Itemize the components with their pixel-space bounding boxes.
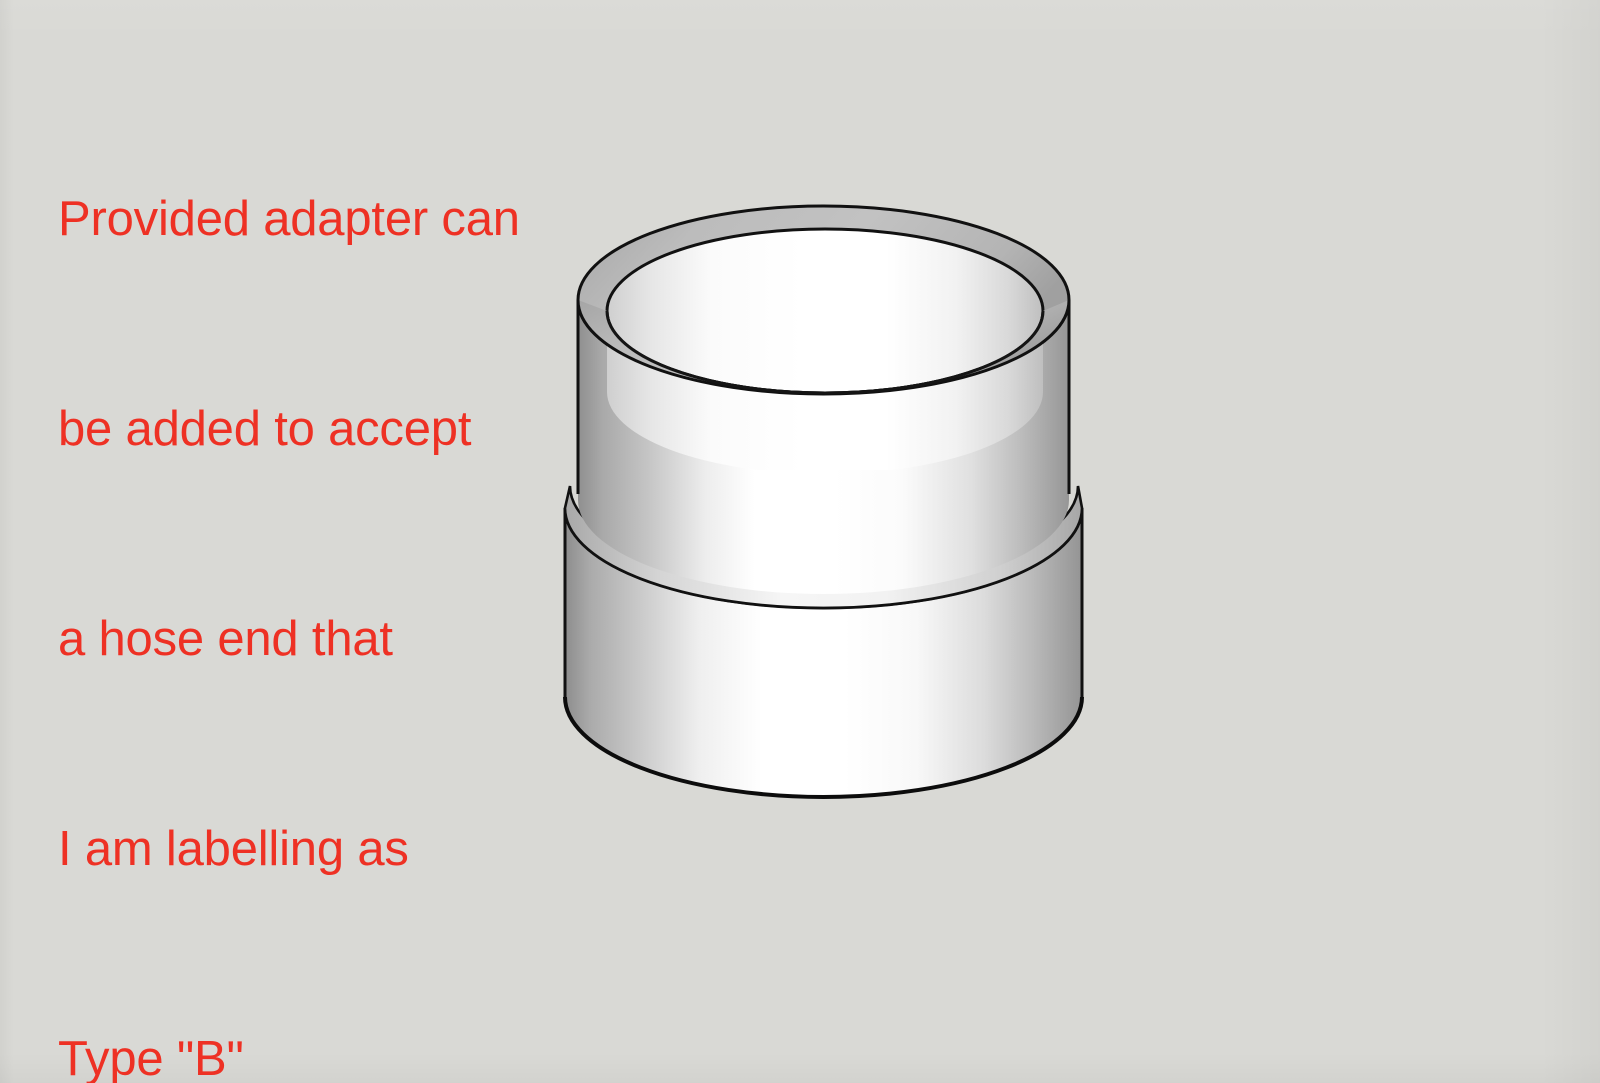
annotation-line-4: I am labelling as [58,814,678,884]
annotation-line-2: be added to accept [58,394,678,464]
cad-viewport: Provided adapter can be added to accept … [0,0,1600,1083]
annotation-line-1: Provided adapter can [58,184,678,254]
annotation-text-block: Provided adapter can be added to accept … [58,44,678,1083]
annotation-line-5: Type "B" [58,1024,678,1083]
annotation-line-3: a hose end that [58,604,678,674]
